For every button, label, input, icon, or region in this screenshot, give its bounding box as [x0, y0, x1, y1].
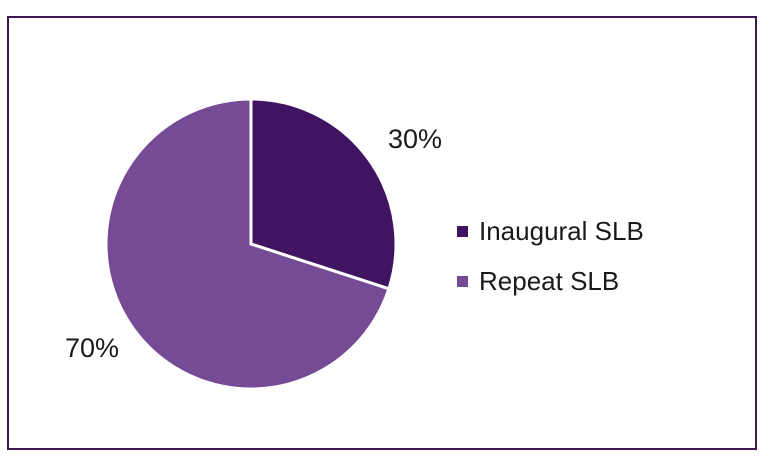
chart-screenshot: 30% 70% Inaugural SLB Repeat SLB — [0, 0, 768, 471]
legend-item-inaugural-slb[interactable]: Inaugural SLB — [457, 206, 737, 256]
chart-frame-border: 30% 70% Inaugural SLB Repeat SLB — [7, 16, 757, 450]
legend-square-icon — [457, 226, 468, 237]
chart-legend: Inaugural SLB Repeat SLB — [457, 206, 737, 306]
legend-label-repeat-slb: Repeat SLB — [479, 268, 619, 294]
pie-chart-graphic — [106, 99, 396, 389]
pie-slices — [106, 99, 396, 389]
pie-svg — [106, 99, 396, 389]
data-label-repeat-slb: 70% — [65, 333, 119, 364]
legend-square-icon — [457, 276, 468, 287]
data-label-inaugural-slb: 30% — [388, 124, 442, 155]
legend-item-repeat-slb[interactable]: Repeat SLB — [457, 256, 737, 306]
legend-label-inaugural-slb: Inaugural SLB — [479, 218, 644, 244]
